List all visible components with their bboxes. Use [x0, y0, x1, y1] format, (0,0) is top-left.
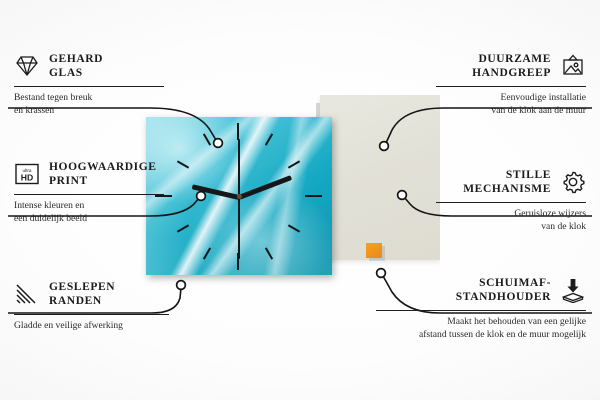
feature-title: SCHUIMAF-STANDHOUDER: [456, 276, 551, 305]
feature-title: STILLEMECHANISME: [463, 168, 551, 197]
feature-title: GEHARDGLAS: [49, 52, 103, 81]
gear-icon: [560, 169, 586, 195]
divider: [436, 86, 586, 87]
infographic-canvas: GEHARDGLAS Bestand tegen breuken krassen…: [0, 0, 600, 400]
diamond-icon: [14, 53, 40, 79]
feature-heading-row: SCHUIMAF-STANDHOUDER: [376, 276, 586, 305]
wall-clock: [146, 117, 332, 275]
foam-spacer-icon: [560, 277, 586, 303]
feature-description: Bestand tegen breuken krassen: [14, 92, 164, 118]
product-photo: [130, 95, 440, 287]
feature-gehard-glas[interactable]: GEHARDGLAS Bestand tegen breuken krassen: [14, 52, 164, 118]
feature-description: Maakt het behouden van een gelijkeafstan…: [376, 316, 586, 342]
feature-hoogwaardige-print[interactable]: ultra HD HOOGWAARDIGEPRINT Intense kleur…: [14, 160, 164, 226]
feature-geslepen-randen[interactable]: GESLEPENRANDEN Gladde en veilige afwerki…: [14, 280, 169, 333]
wall-panel: [320, 95, 440, 260]
feature-heading-row: GEHARDGLAS: [14, 52, 164, 81]
clock-tick: [305, 195, 322, 197]
feature-heading-row: GESLEPENRANDEN: [14, 280, 169, 309]
feature-schuimafstandhouder[interactable]: SCHUIMAF-STANDHOUDER Maakt het behouden …: [376, 276, 586, 342]
bevelled-edge-icon: [14, 281, 40, 307]
divider: [14, 314, 169, 315]
feature-title: HOOGWAARDIGEPRINT: [49, 160, 157, 189]
feature-description: Eenvoudige installatievan de klok aan de…: [436, 92, 586, 118]
svg-text:HD: HD: [21, 173, 33, 183]
feature-heading-row: ultra HD HOOGWAARDIGEPRINT: [14, 160, 164, 189]
ultra-hd-icon: ultra HD: [14, 161, 40, 187]
picture-hook-icon: [560, 53, 586, 79]
foam-spacer-pad: [366, 243, 382, 258]
feature-heading-row: DUURZAMEHANDGREEP: [436, 52, 586, 81]
feature-stille-mechanisme[interactable]: STILLEMECHANISME Geruisloze wijzersvan d…: [436, 168, 586, 234]
feature-title: DUURZAMEHANDGREEP: [472, 52, 551, 81]
second-hand: [238, 197, 240, 259]
hand-cap: [237, 194, 242, 199]
feature-description: Intense kleuren eneen duidelijk beeld: [14, 200, 164, 226]
feature-duurzame-handgreep[interactable]: DUURZAMEHANDGREEP Eenvoudige installatie…: [436, 52, 586, 118]
second-hand-tail: [238, 139, 240, 197]
feature-description: Gladde en veilige afwerking: [14, 320, 169, 333]
feature-heading-row: STILLEMECHANISME: [436, 168, 586, 197]
clock-tick: [237, 123, 239, 140]
divider: [376, 310, 586, 311]
feature-description: Geruisloze wijzersvan de klok: [436, 208, 586, 234]
divider: [436, 202, 586, 203]
divider: [14, 194, 164, 195]
feature-title: GESLEPENRANDEN: [49, 280, 115, 309]
divider: [14, 86, 164, 87]
